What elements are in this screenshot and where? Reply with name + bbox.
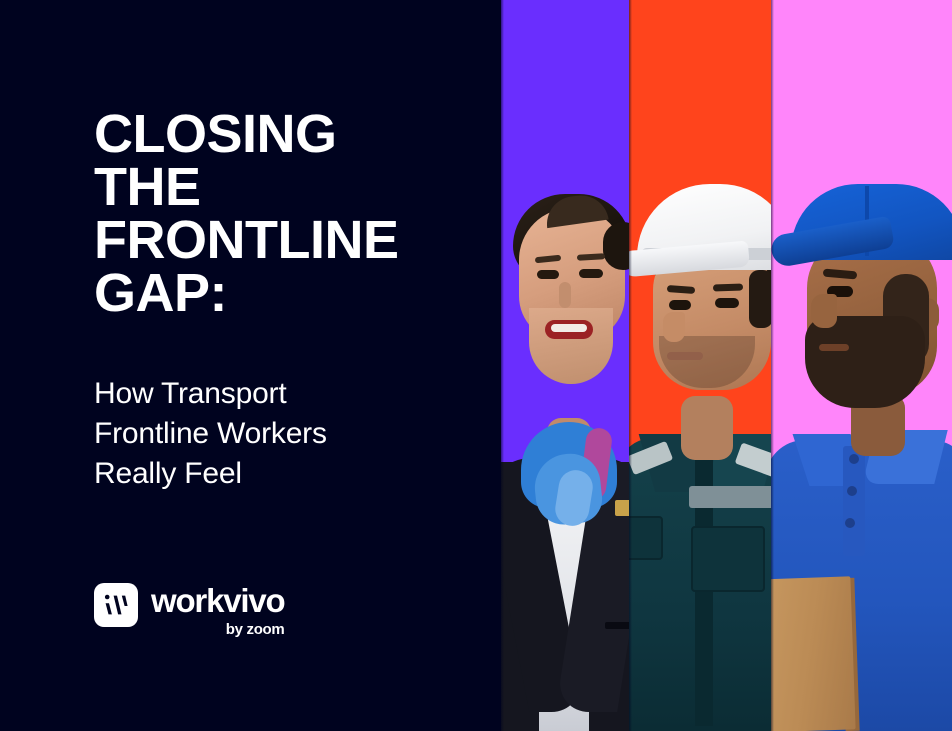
workvivo-byline: by zoom — [151, 621, 284, 638]
workvivo-mark-icon — [94, 583, 138, 627]
nose — [663, 312, 685, 342]
name-badge — [615, 500, 629, 516]
reflective-chest-band — [689, 486, 771, 508]
workvivo-wordmark: workvivo — [151, 584, 284, 617]
eye-left — [669, 300, 691, 310]
lips — [819, 344, 849, 351]
workvivo-wordmark-group: workvivo by zoom — [151, 583, 284, 638]
panel-delivery-driver — [771, 0, 952, 731]
hard-hat-worker-figure — [629, 148, 771, 731]
panel-flight-attendant — [501, 0, 629, 731]
title-line-1: CLOSING — [94, 108, 454, 161]
neck — [681, 396, 733, 460]
beard — [805, 316, 925, 408]
eye-left — [537, 270, 559, 279]
eye-right — [579, 269, 603, 278]
photo-panel-strip — [501, 0, 952, 731]
subtitle-line-1: How Transport — [94, 374, 434, 414]
subtitle-line-3: Really Feel — [94, 454, 434, 494]
sideburn — [749, 270, 771, 328]
left-text-column: CLOSING THE FRONTLINE GAP: How Transport… — [0, 0, 501, 731]
flight-attendant-figure — [501, 170, 629, 731]
nose — [811, 294, 837, 328]
lips — [667, 352, 703, 360]
title-line-2: THE — [94, 161, 454, 214]
polo-button-bottom — [845, 518, 855, 528]
panel-edge-shadow — [501, 0, 504, 731]
workvivo-logo-lockup: workvivo by zoom — [94, 583, 284, 638]
delivery-driver-figure — [771, 158, 952, 731]
hair-bun — [603, 222, 629, 270]
panel-edge-shadow — [771, 0, 774, 731]
side-pocket — [629, 516, 663, 560]
page-title: CLOSING THE FRONTLINE GAP: — [94, 108, 454, 320]
panel-edge-shadow — [629, 0, 632, 731]
eye-right — [715, 298, 739, 308]
subtitle-line-2: Frontline Workers — [94, 414, 434, 454]
polo-button-top — [849, 454, 859, 464]
chest-pocket — [691, 526, 765, 592]
cardboard-box — [771, 576, 856, 731]
title-line-3: FRONTLINE — [94, 214, 454, 267]
eyebrow-right — [713, 283, 743, 291]
polo-button-middle — [847, 486, 857, 496]
title-line-4: GAP: — [94, 267, 454, 320]
panel-hard-hat-worker — [629, 0, 771, 731]
page-subtitle: How Transport Frontline Workers Really F… — [94, 374, 434, 495]
nose — [559, 282, 571, 308]
blazer-pocket — [605, 622, 629, 629]
teeth — [551, 324, 587, 332]
report-cover: CLOSING THE FRONTLINE GAP: How Transport… — [0, 0, 952, 731]
